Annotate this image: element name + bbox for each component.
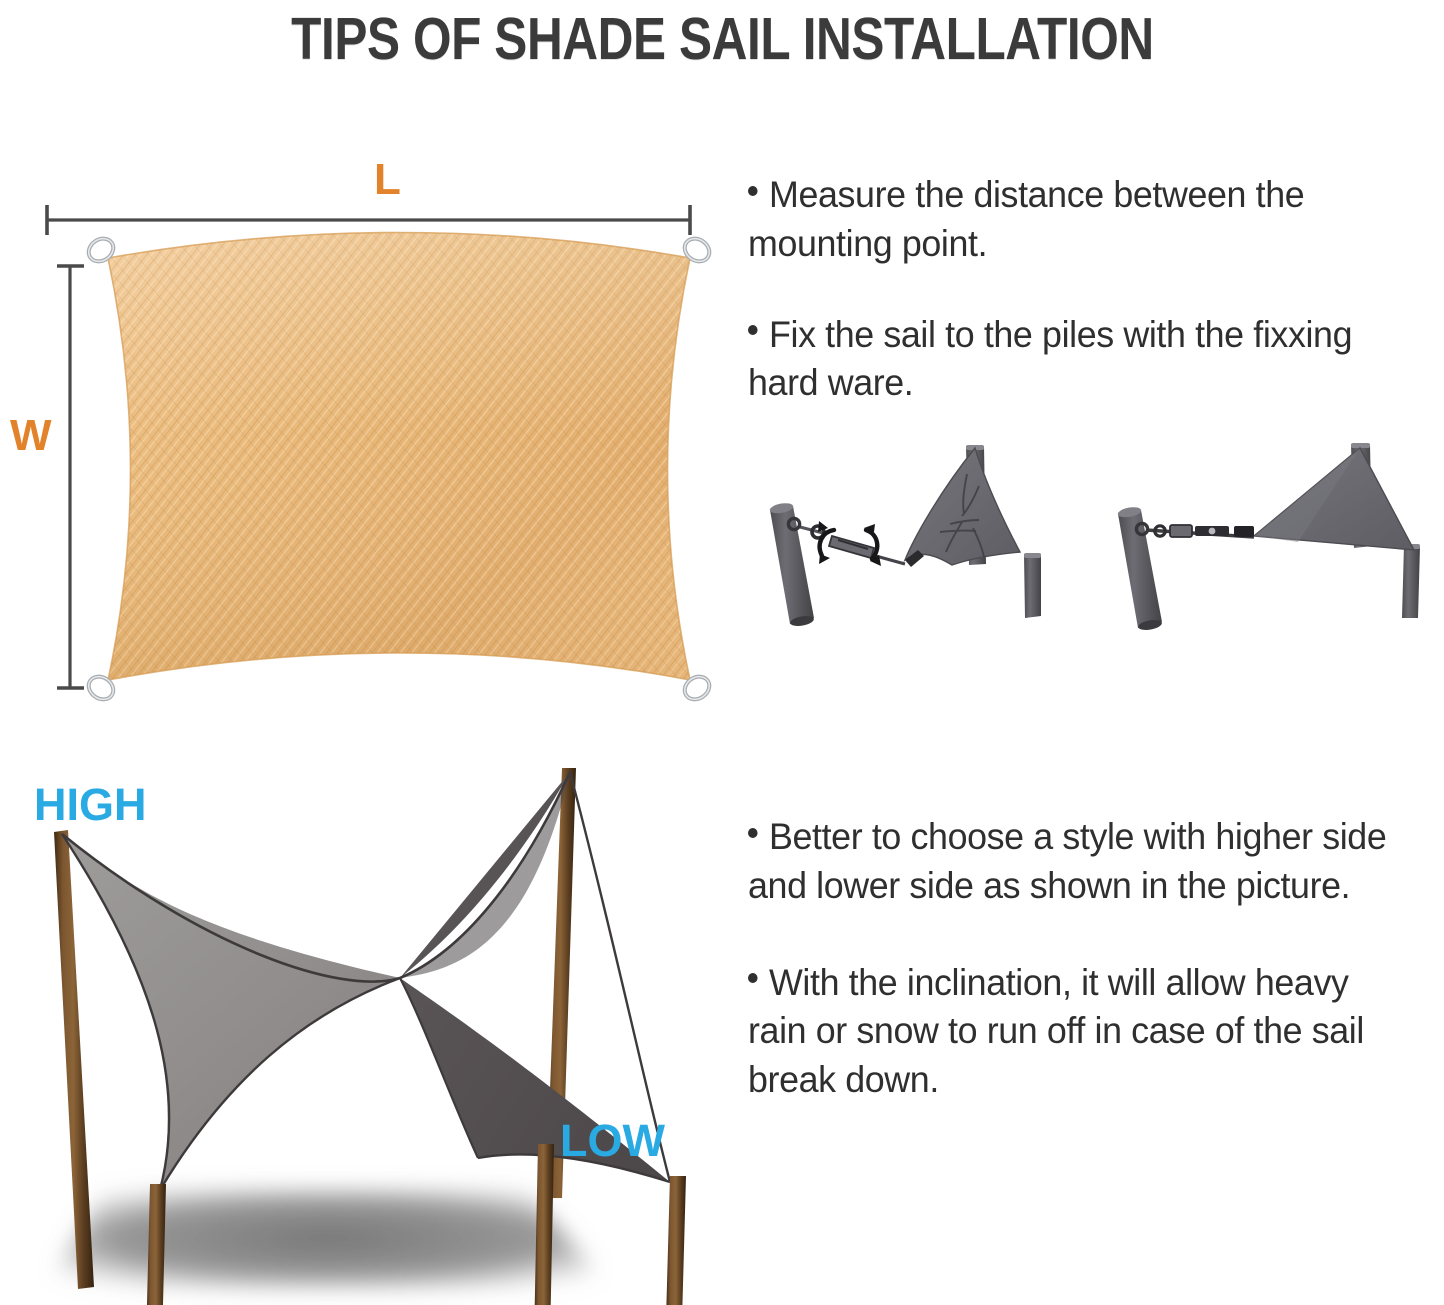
bullet-dot-icon bbox=[748, 325, 758, 335]
low-side-label: LOW bbox=[560, 1118, 665, 1163]
turnbuckle-right bbox=[1170, 525, 1254, 537]
tip-item: Fix the sail to the piles with the fixxi… bbox=[748, 310, 1413, 408]
tip-item: With the inclination, it will allow heav… bbox=[748, 958, 1413, 1104]
tips-list-top: Measure the distance between the mountin… bbox=[748, 170, 1444, 440]
high-side-label: HIGH bbox=[34, 782, 147, 827]
sail-dimension-diagram: L W bbox=[0, 120, 740, 680]
bullet-dot-icon bbox=[748, 186, 758, 196]
support-post-low-right bbox=[666, 1176, 686, 1305]
support-post-low-mid bbox=[534, 1144, 554, 1305]
width-dimension-label: W bbox=[10, 414, 52, 458]
tip-text: Measure the distance between the mountin… bbox=[748, 173, 1304, 264]
tip-text: Fix the sail to the piles with the fixxi… bbox=[748, 313, 1352, 404]
tips-list-bottom: Better to choose a style with higher sid… bbox=[748, 812, 1444, 1192]
hardware-installation-illustrations bbox=[748, 432, 1444, 662]
support-post-right-lower bbox=[1402, 544, 1420, 618]
title-bar: TIPS OF SHADE SAIL INSTALLATION bbox=[0, 0, 1444, 78]
shade-sail-fabric bbox=[60, 200, 760, 720]
structure-svg bbox=[10, 760, 740, 1305]
bullet-dot-icon bbox=[748, 973, 758, 983]
hardware-svg bbox=[748, 432, 1444, 662]
inclined-sail-structure-diagram: HIGH LOW bbox=[10, 760, 740, 1305]
support-post-high-left bbox=[54, 830, 94, 1289]
tip-item: Measure the distance between the mountin… bbox=[748, 170, 1413, 268]
length-dimension-label: L bbox=[374, 158, 401, 202]
sail-dimension-svg bbox=[0, 120, 740, 680]
tensioned-sail-illustration bbox=[1117, 443, 1420, 632]
ground-shadow bbox=[46, 1190, 610, 1287]
tip-text: With the inclination, it will allow heav… bbox=[748, 961, 1364, 1101]
tip-text: Better to choose a style with higher sid… bbox=[748, 815, 1386, 906]
turnbuckle-left bbox=[829, 536, 874, 558]
width-dimension-line bbox=[57, 266, 84, 688]
page-title: TIPS OF SHADE SAIL INSTALLATION bbox=[291, 5, 1154, 73]
loose-sail-illustration bbox=[769, 445, 1041, 628]
tip-item: Better to choose a style with higher sid… bbox=[748, 812, 1413, 910]
length-dimension-line bbox=[47, 205, 690, 235]
sail-surface-light bbox=[62, 834, 400, 1190]
bullet-dot-icon bbox=[748, 828, 758, 838]
support-post-left-lower bbox=[1024, 553, 1041, 618]
